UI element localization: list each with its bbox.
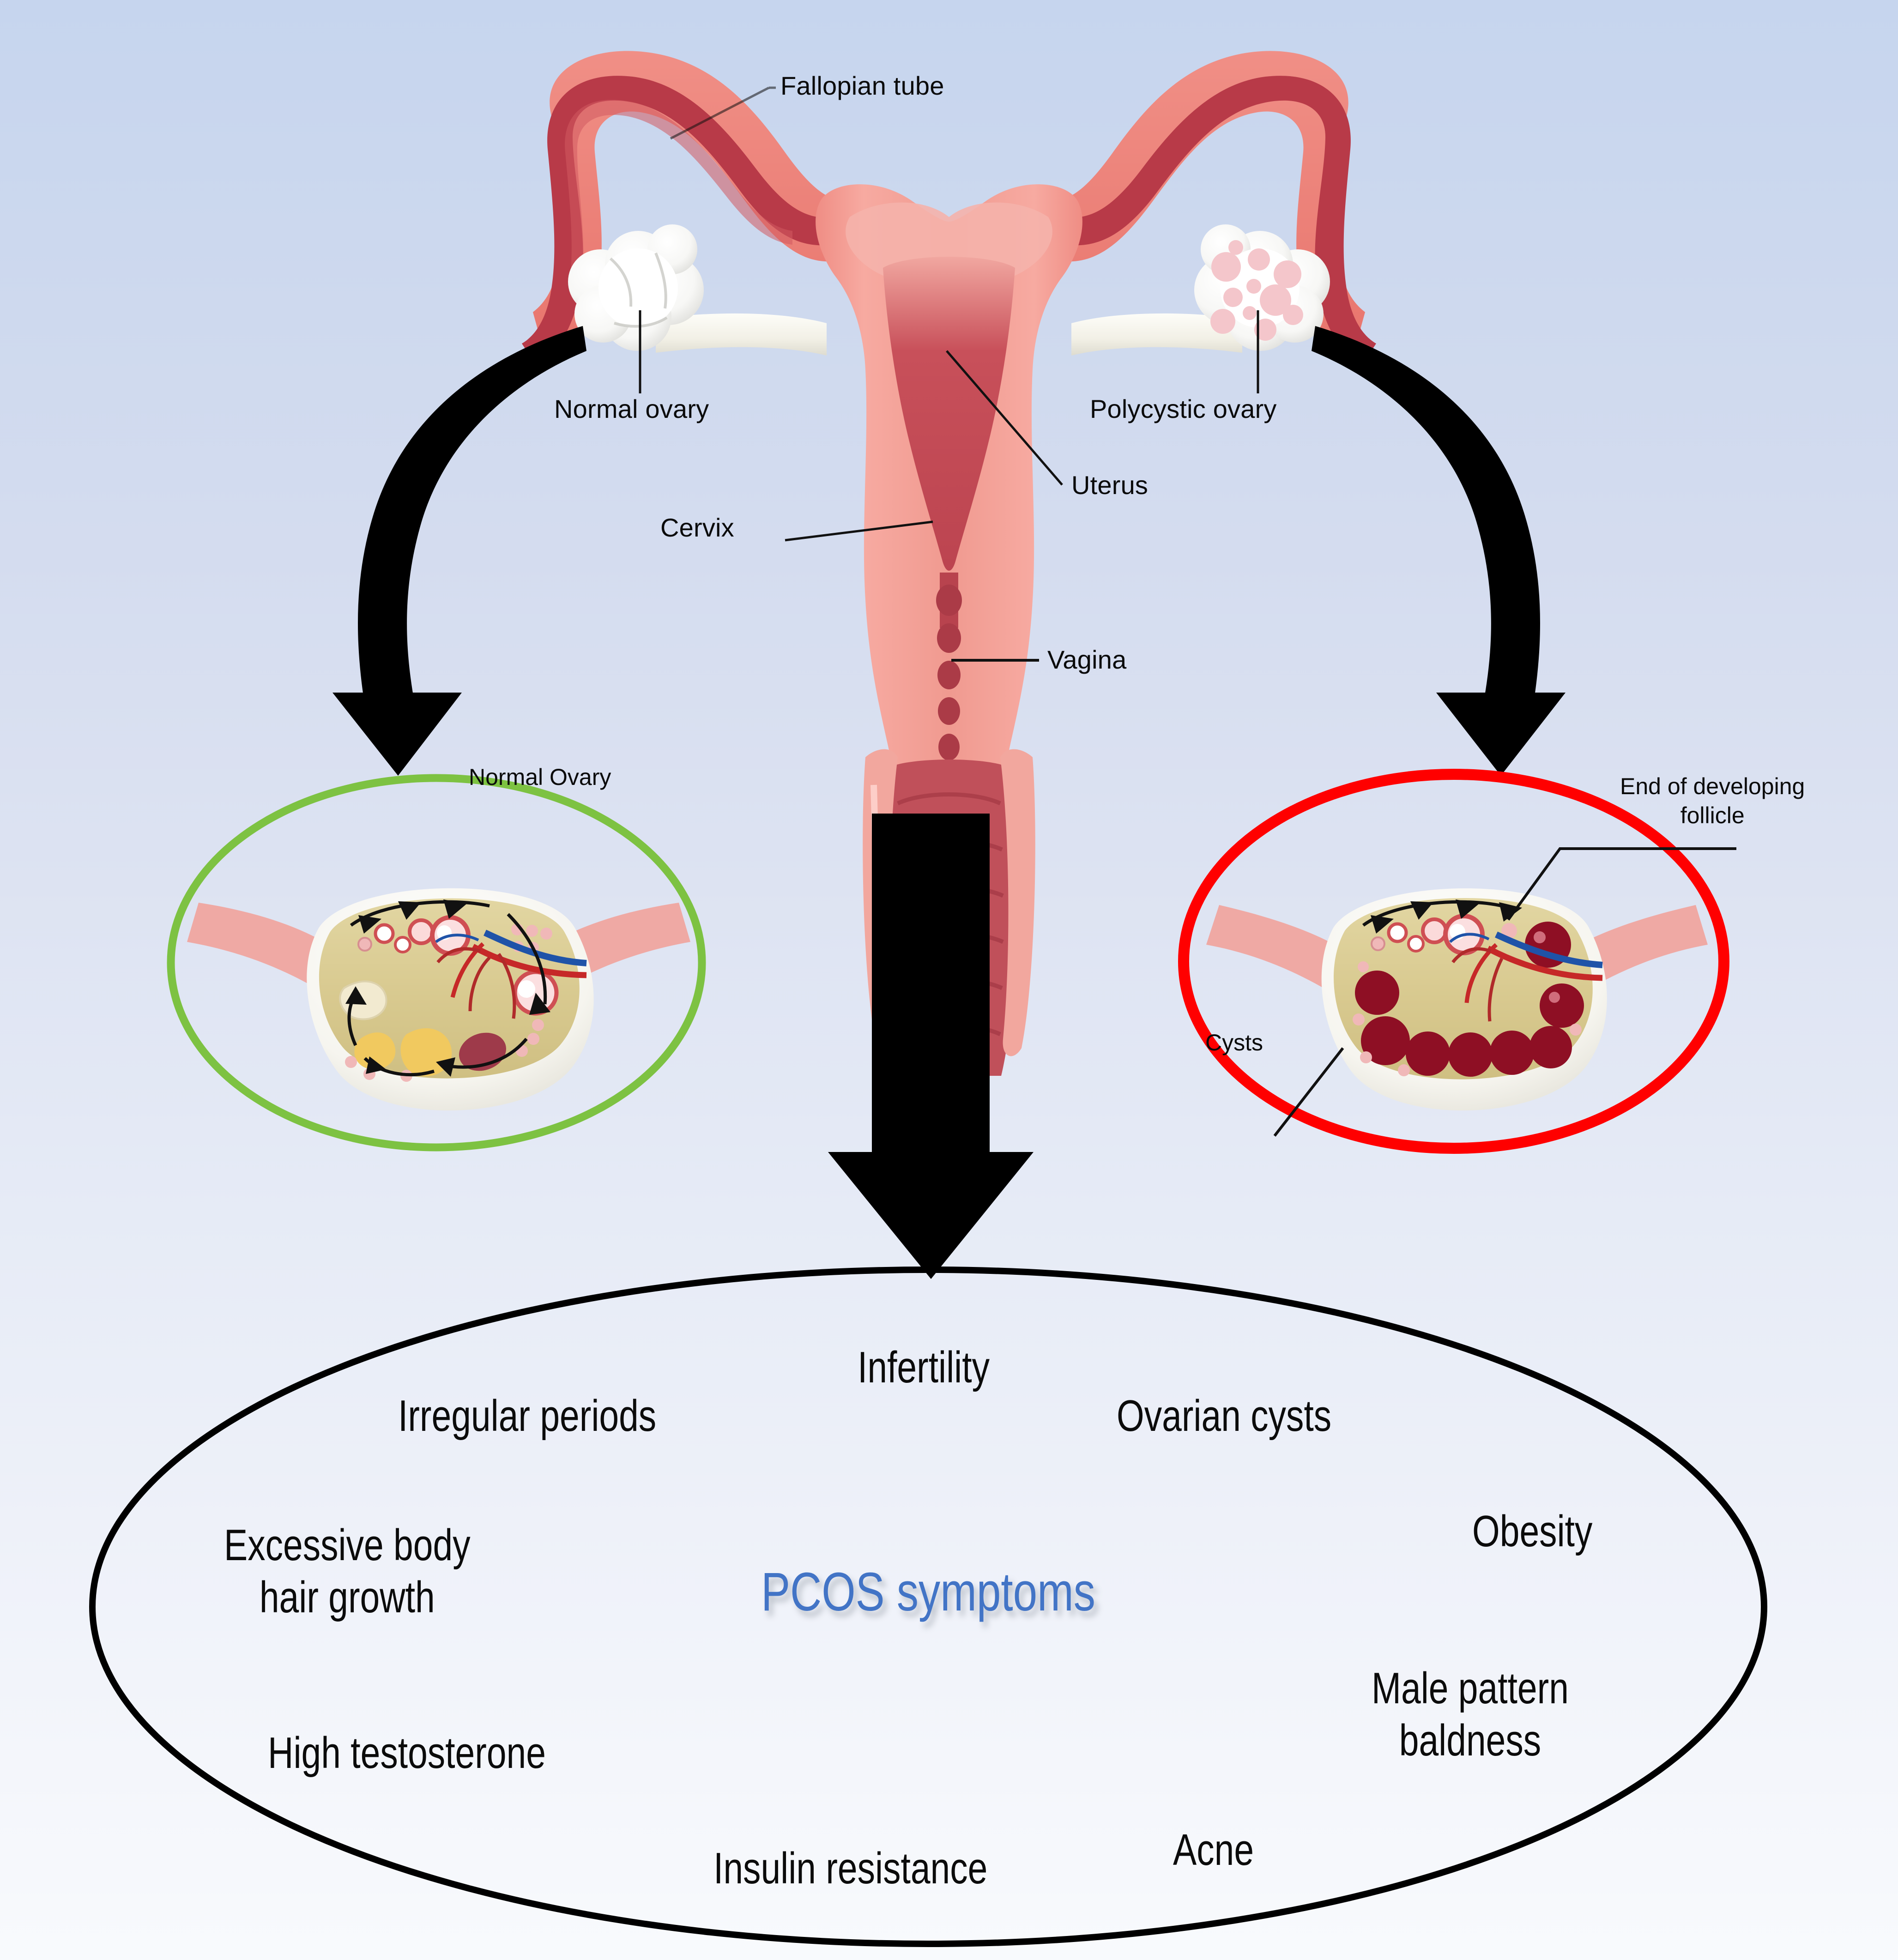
arrow-left-curve (358, 326, 586, 732)
label-fallopian-tube: Fallopian tube (780, 72, 944, 101)
label-uterus: Uterus (1071, 471, 1148, 500)
cyst (1448, 1032, 1493, 1077)
symptom-high-testosterone: High testosterone (268, 1727, 546, 1779)
symptom-insulin-resistance: Insulin resistance (713, 1842, 987, 1894)
label-end-of-developing-follicle: End of developing follicle (1620, 772, 1805, 830)
symptom-excessive-body-hair-growth: Excessive body hair growth (224, 1519, 471, 1624)
pcos-symptoms-title: PCOS symptoms (761, 1561, 1095, 1623)
symptom-irregular-periods: Irregular periods (398, 1390, 656, 1442)
symptom-ovarian-cysts: Ovarian cysts (1117, 1390, 1331, 1442)
symptom-male-pattern-baldness: Male pattern baldness (1372, 1662, 1569, 1767)
symptom-obesity: Obesity (1472, 1505, 1592, 1557)
label-cysts: Cysts (1205, 1030, 1263, 1055)
arrow-right-head (1436, 693, 1566, 776)
cyst (1540, 983, 1584, 1028)
label-vagina: Vagina (1047, 645, 1126, 675)
label-normal-ovary: Normal ovary (554, 395, 709, 424)
panel-polycystic-ovary (1184, 774, 1736, 1148)
cyst (1406, 1031, 1450, 1076)
label-panel-normal-ovary: Normal Ovary (469, 764, 611, 790)
symptom-infertility: Infertility (858, 1341, 990, 1393)
arrow-right-curve (1312, 326, 1540, 732)
panel-normal-ovary (171, 778, 702, 1147)
cyst (1355, 971, 1399, 1015)
label-polycystic-ovary: Polycystic ovary (1090, 395, 1277, 424)
label-cervix: Cervix (660, 513, 734, 543)
cyst (1490, 1031, 1534, 1075)
arrow-left-head (332, 693, 462, 776)
diagram-canvas: Fallopian tube Normal ovary Polycystic o… (0, 0, 1898, 1960)
symptom-acne: Acne (1173, 1824, 1254, 1876)
anatomy-illustration (0, 0, 1898, 1960)
cyst (1529, 1026, 1572, 1068)
